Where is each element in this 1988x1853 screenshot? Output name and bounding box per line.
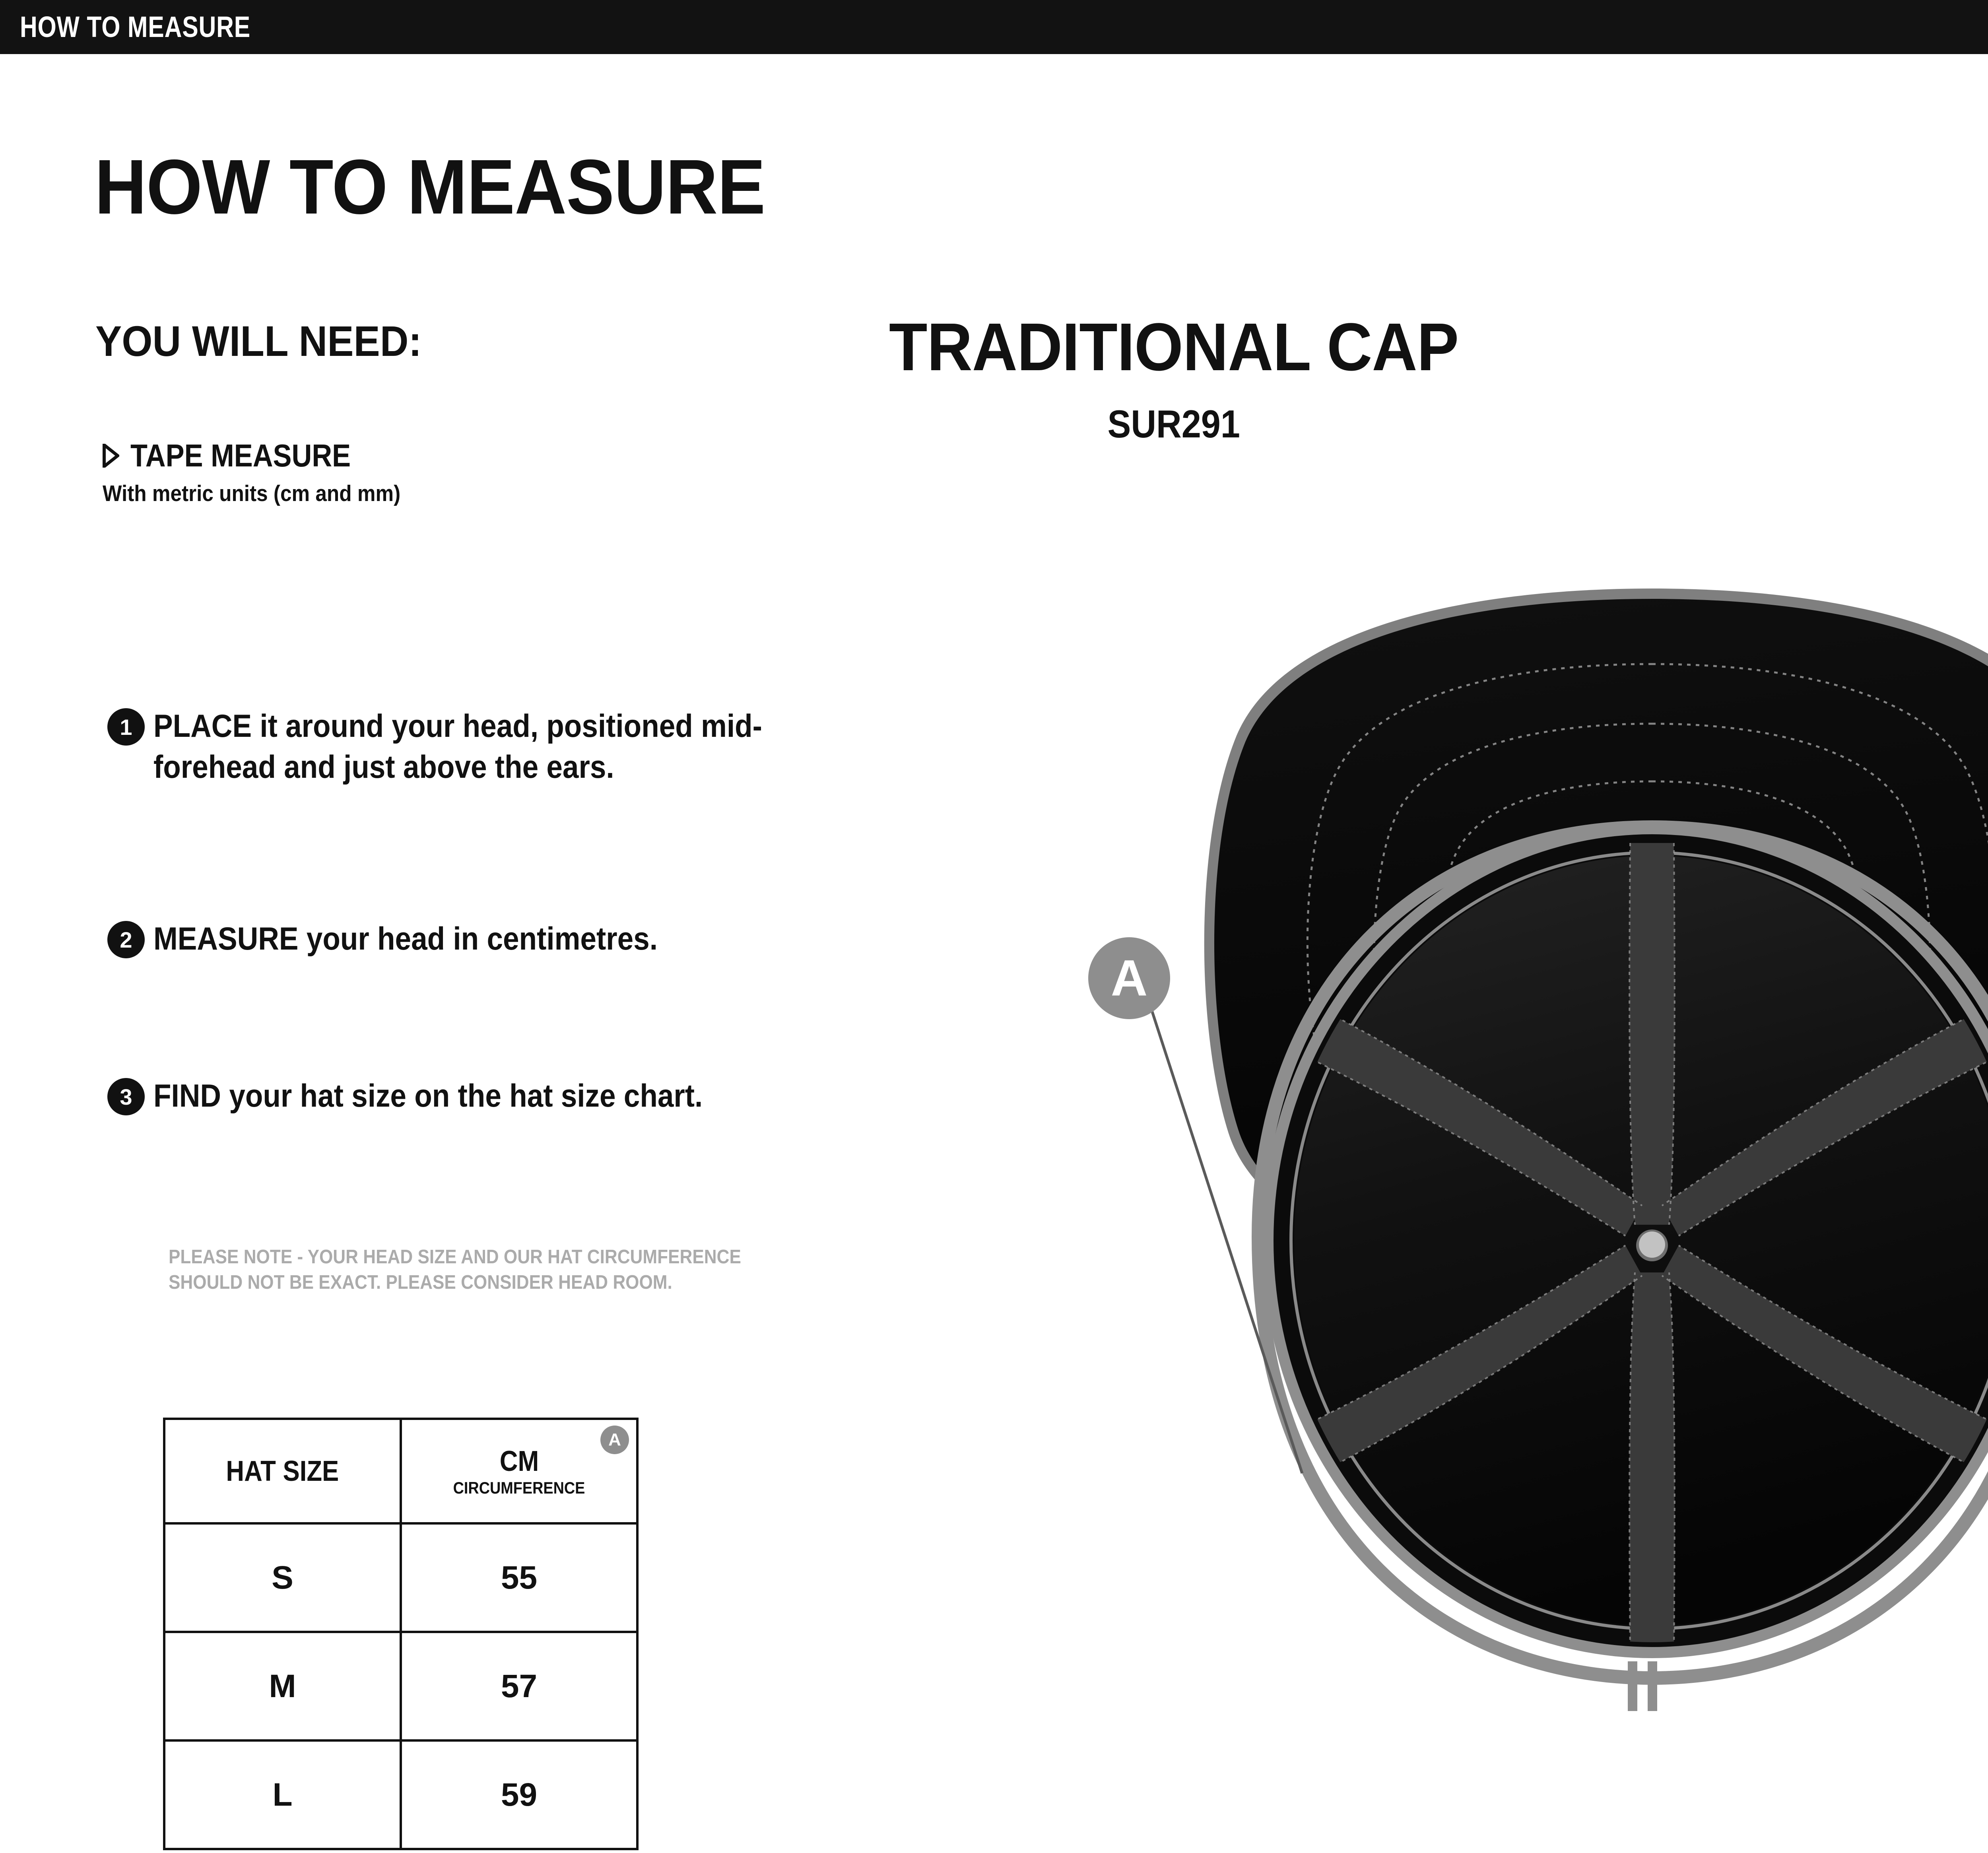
cell-circumference: 57 xyxy=(401,1632,637,1740)
step-number-badge: 3 xyxy=(107,1078,145,1115)
step-item: 2 MEASURE your head in centimetres. xyxy=(107,919,855,960)
table-row: S 55 xyxy=(164,1523,637,1632)
step-item: 1 PLACE it around your head, positioned … xyxy=(107,706,855,788)
step-text: MEASURE your head in centimetres. xyxy=(153,919,658,960)
cap-diagram: A xyxy=(1074,565,1988,1853)
top-header-bar: HOW TO MEASURE SURRIDGE xyxy=(0,0,1988,54)
header-label-circumference: CIRCUMFERENCE xyxy=(414,1478,624,1498)
traditional-cap-top-view-icon: A xyxy=(1074,565,1988,1853)
hat-size-table: HAT SIZE CM CIRCUMFERENCE A S 55 M 57 L … xyxy=(163,1418,639,1850)
step-number-badge: 2 xyxy=(107,921,145,958)
cell-hat-size: S xyxy=(164,1523,401,1632)
header-cell-circumference: CM CIRCUMFERENCE A xyxy=(401,1419,637,1523)
header-label-hat-size: HAT SIZE xyxy=(226,1455,339,1488)
step-text: PLACE it around your head, positioned mi… xyxy=(153,706,785,788)
table-row: L 59 xyxy=(164,1740,637,1849)
step-text: FIND your hat size on the hat size chart… xyxy=(153,1076,703,1117)
step-number-badge: 1 xyxy=(107,708,145,746)
header-cell-hat-size: HAT SIZE xyxy=(164,1419,401,1523)
cell-circumference: 59 xyxy=(401,1740,637,1849)
cell-hat-size: M xyxy=(164,1632,401,1740)
product-code: SUR291 xyxy=(0,402,1988,447)
product-name: TRADITIONAL CAP xyxy=(0,308,1988,386)
cell-circumference: 55 xyxy=(401,1523,637,1632)
crown-button-icon xyxy=(1636,1230,1668,1261)
callout-label: A xyxy=(1111,950,1147,1007)
header-title: HOW TO MEASURE xyxy=(20,0,250,54)
requirement-detail: With metric units (cm and mm) xyxy=(103,480,400,507)
page-title: HOW TO MEASURE xyxy=(95,142,765,231)
table-header-row: HAT SIZE CM CIRCUMFERENCE A xyxy=(164,1419,637,1523)
table-row: M 57 xyxy=(164,1632,637,1740)
please-note-text: PLEASE NOTE - YOUR HEAD SIZE AND OUR HAT… xyxy=(169,1245,777,1295)
triangle-right-icon xyxy=(103,444,119,468)
step-item: 3 FIND your hat size on the hat size cha… xyxy=(107,1076,855,1117)
cell-hat-size: L xyxy=(164,1740,401,1849)
measure-reference-badge: A xyxy=(600,1426,629,1454)
header-label-cm: CM xyxy=(499,1445,539,1478)
